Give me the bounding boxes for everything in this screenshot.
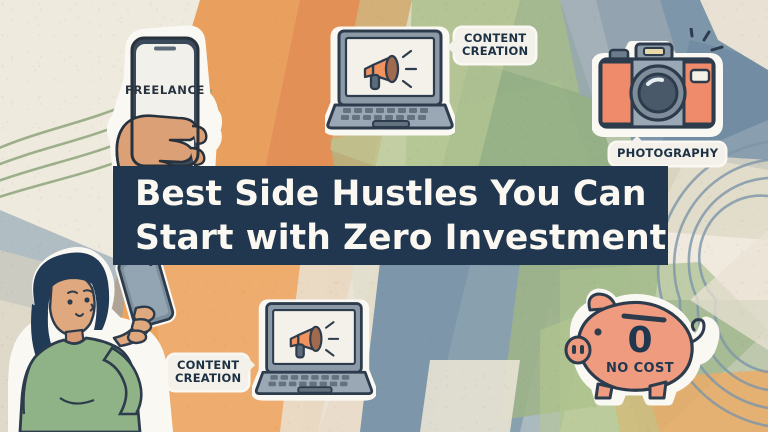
piggy-caption-text: NO COST <box>606 361 674 376</box>
label-line-2: CREATION <box>462 45 528 58</box>
label-content-creation-top: CONTENT CREATION <box>455 28 535 63</box>
label-line-1: PHOTOGRAPHY <box>617 147 718 160</box>
label-line-2: CREATION <box>175 372 241 385</box>
phone-screen-text: FREELANCE <box>125 83 205 97</box>
camera-sticker <box>592 28 732 148</box>
laptop-megaphone-sticker-bottom <box>252 298 376 402</box>
laptop-megaphone-sticker-top <box>325 25 455 137</box>
title-banner: Best Side Hustles You Can Start with Zer… <box>113 166 668 265</box>
title-line-2: Start with Zero Investment <box>135 216 668 260</box>
poster-canvas: FREELANCE <box>0 0 768 432</box>
title-line-1: Best Side Hustles You Can <box>135 172 668 216</box>
label-photography: PHOTOGRAPHY <box>610 143 725 165</box>
piggy-zero-text: 0 <box>627 320 652 361</box>
label-content-creation-bottom: CONTENT CREATION <box>168 355 248 390</box>
piggy-bank-sticker: 0 NO COST <box>546 288 728 406</box>
woman-with-phone-sticker <box>8 238 183 432</box>
hand-holding-phone-sticker: FREELANCE <box>100 22 230 182</box>
